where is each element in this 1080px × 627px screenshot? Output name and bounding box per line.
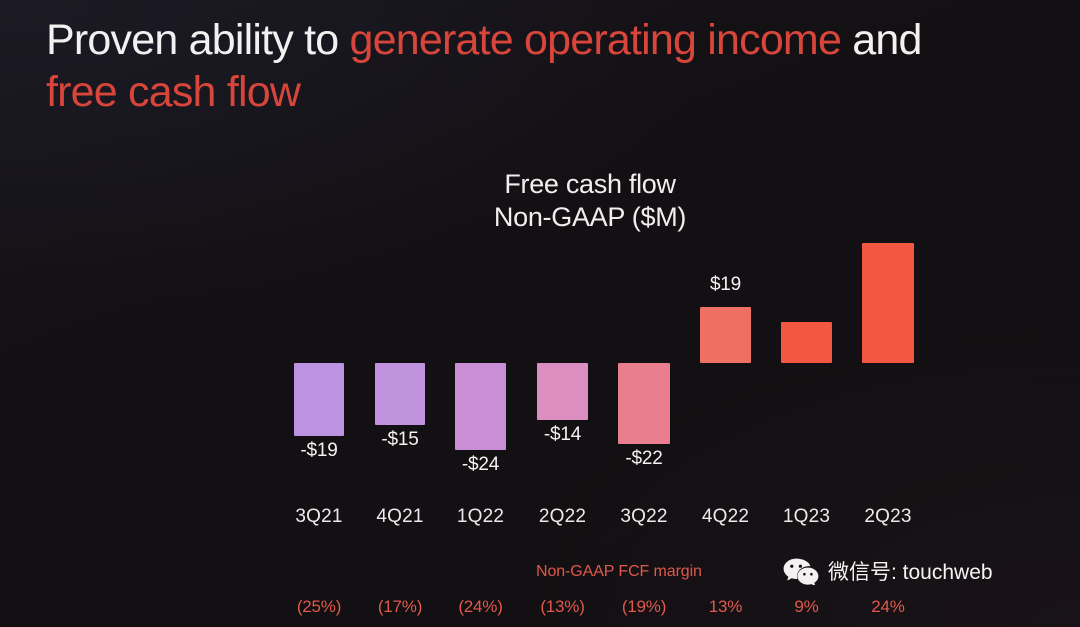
fcf-margin-3q21: (25%) [294, 597, 344, 617]
bar-column: -$15 [375, 232, 425, 464]
watermark: 微信号: touchweb [783, 556, 993, 586]
x-axis-tick-2q23: 2Q23 [862, 506, 914, 528]
fcf-margin-3q22: (19%) [618, 597, 670, 617]
bar-2q22 [537, 363, 588, 420]
x-axis-tick-3q21: 3Q21 [294, 506, 344, 528]
watermark-text: 微信号: touchweb [828, 556, 993, 586]
bar-3q21 [294, 363, 344, 436]
bar-value-label-1q22: -$24 [462, 454, 499, 476]
fcf-margin-4q22: 13% [700, 597, 751, 617]
bar-column: -$22 [618, 232, 670, 464]
bar-value-label-3q22: -$22 [625, 448, 662, 470]
page-title-part-3: income [707, 16, 841, 64]
page-title-part-4: and [841, 16, 922, 64]
bar-1q23 [781, 322, 832, 363]
slide-root: Proven ability to generate operating inc… [0, 0, 1080, 627]
x-axis-tick-2q22: 2Q22 [537, 506, 588, 528]
bar-value-label-4q21: -$15 [381, 429, 418, 451]
bar-column: $19 [700, 232, 751, 464]
bar-value-label-4q22: $19 [710, 274, 741, 296]
fcf-margin-1q22: (24%) [455, 597, 506, 617]
chart-title: Free cash flow Non-GAAP ($M) [380, 168, 800, 234]
x-axis-tick-3q22: 3Q22 [618, 506, 670, 528]
fcf-margin-1q23: 9% [781, 597, 832, 617]
x-axis-tick-1q22: 1Q22 [455, 506, 506, 528]
fcf-margin-values: (25%)(17%)(24%)(13%)(19%)13%9%24% [283, 597, 923, 621]
x-axis-tick-4q21: 4Q21 [375, 506, 425, 528]
page-title-part-5: free cash flow [46, 68, 300, 116]
bar-column: -$24 [455, 232, 506, 464]
bar-1q22 [455, 363, 506, 450]
fcf-margin-legend-label: Non-GAAP FCF margin [536, 563, 702, 581]
bar-4q21 [375, 363, 425, 425]
page-title: Proven ability to generate operating inc… [46, 14, 926, 118]
bar-column: -$14 [537, 232, 588, 464]
chart-title-line-2: Non-GAAP ($M) [380, 201, 800, 234]
bar-value-label-3q21: -$19 [300, 440, 337, 462]
page-title-part-2 [696, 16, 707, 64]
bar-column [862, 232, 914, 464]
bar-value-label-2q22: -$14 [544, 424, 581, 446]
bar-chart-plot: -$19-$15-$24-$14-$22$19 [283, 232, 923, 464]
bar-3q22 [618, 363, 670, 444]
x-axis-tick-4q22: 4Q22 [700, 506, 751, 528]
fcf-margin-2q23: 24% [862, 597, 914, 617]
bar-column [781, 232, 832, 464]
fcf-margin-2q22: (13%) [537, 597, 588, 617]
x-axis-tick-1q23: 1Q23 [781, 506, 832, 528]
chart-title-line-1: Free cash flow [380, 168, 800, 201]
fcf-margin-4q21: (17%) [375, 597, 425, 617]
wechat-icon [783, 558, 819, 585]
page-title-part-1: generate operating [349, 16, 696, 64]
page-title-part-0: Proven ability to [46, 16, 349, 64]
bar-2q23 [862, 243, 914, 363]
bar-4q22 [700, 307, 751, 363]
bar-column: -$19 [294, 232, 344, 464]
x-axis-labels: 3Q214Q211Q222Q223Q224Q221Q232Q23 [283, 506, 923, 532]
